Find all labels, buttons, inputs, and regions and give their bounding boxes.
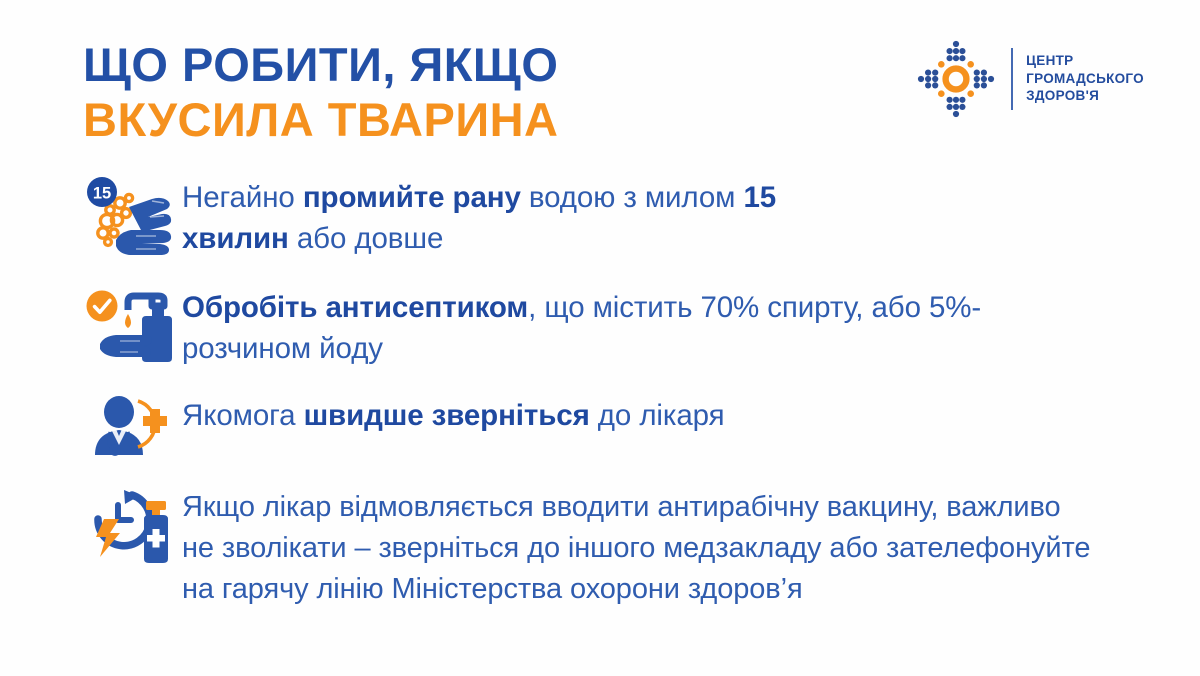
item-text-3: Якомога швидше зверніться до лікаря bbox=[182, 395, 725, 437]
icon-badge-15: 15 bbox=[93, 184, 111, 202]
organization-logo: ЦЕНТР ГРОМАДСЬКОГО ЗДОРОВ'Я bbox=[914, 36, 1144, 122]
list-item: Обробіть антисептиком, що містить 70% сп… bbox=[0, 286, 1200, 370]
logo-text-line-2: ГРОМАДСЬКОГО bbox=[1026, 71, 1144, 87]
logo-text-line-1: ЦЕНТР bbox=[1026, 53, 1144, 69]
list-item: 15 Негайно промийте рану водою з милом 1… bbox=[0, 176, 1200, 260]
item-icon-3 bbox=[86, 395, 182, 457]
item-text-4: Якщо лікар відмовляється вводити антираб… bbox=[182, 485, 1092, 611]
hand-washing-soap-15-minutes-icon: 15 bbox=[86, 176, 178, 260]
item-text-1: Негайно промийте рану водою з милом 15 х… bbox=[182, 176, 802, 259]
list-item: Якомога швидше зверніться до лікаря bbox=[0, 395, 1200, 457]
title-line-secondary: ВКУСИЛА ТВАРИНА bbox=[83, 93, 559, 148]
logo-divider bbox=[1011, 48, 1013, 110]
item-icon-1: 15 bbox=[86, 176, 182, 260]
antiseptic-dispenser-check-icon bbox=[86, 286, 178, 366]
logo-text-line-3: ЗДОРОВ'Я bbox=[1026, 88, 1144, 104]
item-text-2: Обробіть антисептиком, що містить 70% сп… bbox=[182, 286, 982, 369]
logo-text: ЦЕНТР ГРОМАДСЬКОГО ЗДОРОВ'Я bbox=[1026, 53, 1144, 104]
public-health-center-dots-logo-icon bbox=[914, 37, 998, 121]
poster-header: ЩО РОБИТИ, ЯКЩО ВКУСИЛА ТВАРИНА bbox=[0, 0, 1200, 168]
infographic-poster: ЩО РОБИТИ, ЯКЩО ВКУСИЛА ТВАРИНА bbox=[0, 0, 1200, 676]
item-icon-4 bbox=[86, 485, 182, 569]
instruction-list: 15 Негайно промийте рану водою з милом 1… bbox=[0, 170, 1200, 611]
title-line-primary: ЩО РОБИТИ, ЯКЩО bbox=[83, 38, 559, 93]
clock-lightning-vaccine-vial-icon bbox=[86, 485, 178, 569]
poster-title: ЩО РОБИТИ, ЯКЩО ВКУСИЛА ТВАРИНА bbox=[83, 38, 559, 147]
list-item: Якщо лікар відмовляється вводити антираб… bbox=[0, 485, 1200, 611]
item-icon-2 bbox=[86, 286, 182, 370]
doctor-medical-cross-icon bbox=[86, 395, 178, 457]
